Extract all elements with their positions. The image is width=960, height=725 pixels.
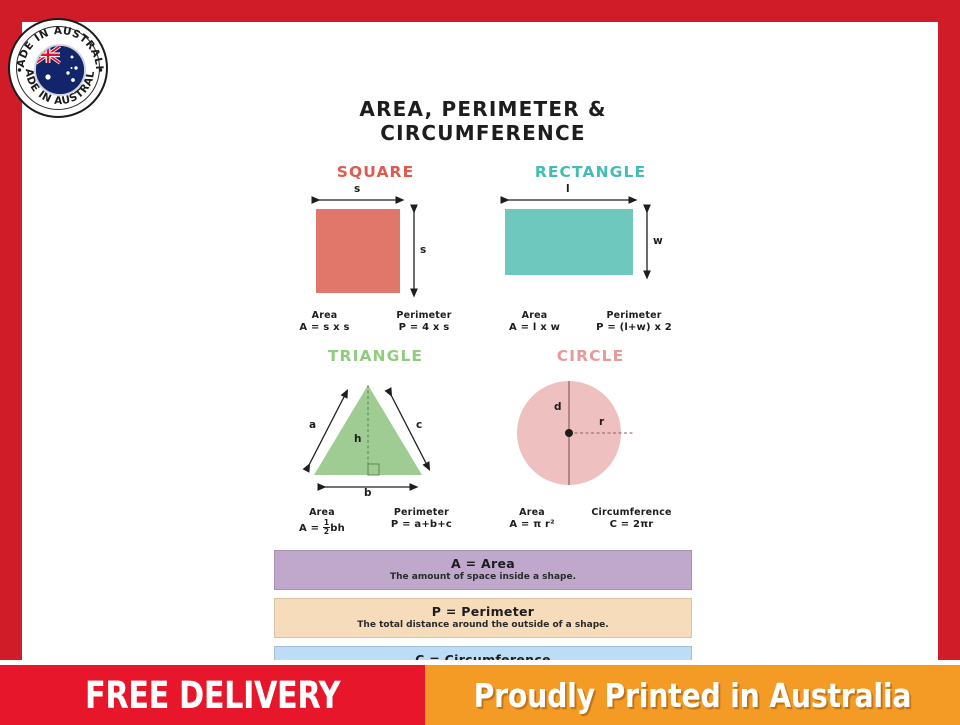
- circle-diagram-svg: [483, 371, 698, 499]
- shape-diagram-circle: d r: [483, 371, 698, 499]
- australian-flag-icon: [34, 44, 86, 96]
- circle-circumference-label: Circumference: [591, 507, 671, 518]
- rectangle-diagram-svg: [483, 187, 698, 307]
- circle-formulas: Area A = π r² Circumference C = 2πr: [483, 507, 698, 530]
- shape-title-triangle: TRIANGLE: [268, 347, 483, 365]
- triangle-area-prefix: A =: [299, 523, 323, 534]
- poster-content: AREA, PERIMETER & CIRCUMFERENCE SQUARE: [268, 80, 698, 640]
- shape-diagram-square: s s: [268, 187, 483, 307]
- circle-diameter-label: d: [554, 401, 562, 413]
- free-delivery-text: FREE DELIVERY: [85, 674, 340, 717]
- triangle-side-c-label: c: [416, 419, 422, 431]
- circle-circumference-expression: C = 2πr: [591, 519, 671, 530]
- rectangle-area-label: Area: [509, 310, 560, 321]
- circle-radius-label: r: [599, 416, 604, 428]
- rectangle-area-formula: Area A = l x w: [509, 310, 560, 333]
- promo-banner: FREE DELIVERY Proudly Printed in Austral…: [0, 665, 960, 725]
- shape-title-rectangle: RECTANGLE: [483, 163, 698, 181]
- definition-perimeter: P = Perimeter The total distance around …: [274, 598, 692, 638]
- circle-circumference-formula: Circumference C = 2πr: [591, 507, 671, 530]
- square-perimeter-label: Perimeter: [396, 310, 451, 321]
- triangle-area-expression: A = 12bh: [299, 519, 345, 536]
- definition-area: A = Area The amount of space inside a sh…: [274, 550, 692, 590]
- shape-title-circle: CIRCLE: [483, 347, 698, 365]
- square-side-right-label: s: [420, 244, 426, 256]
- shape-title-square: SQUARE: [268, 163, 483, 181]
- triangle-area-formula: Area A = 12bh: [299, 507, 345, 536]
- square-area-formula: Area A = s x s: [299, 310, 349, 333]
- shape-card-square: SQUARE s s: [268, 163, 483, 333]
- rectangle-formulas: Area A = l x w Perimeter P = (l+w) x 2: [483, 310, 698, 333]
- triangle-perimeter-expression: P = a+b+c: [391, 519, 452, 530]
- square-side-top-label: s: [354, 183, 360, 195]
- circle-area-formula: Area A = π r²: [509, 507, 554, 530]
- shape-card-rectangle: RECTANGLE l w: [483, 163, 698, 333]
- square-diagram-svg: [268, 187, 483, 307]
- frame-border-right: [938, 0, 960, 665]
- definition-area-title: A = Area: [281, 556, 685, 571]
- proudly-printed-banner: Proudly Printed in Australia: [425, 665, 960, 725]
- definition-perimeter-subtitle: The total distance around the outside of…: [281, 620, 685, 630]
- free-delivery-banner: FREE DELIVERY: [0, 665, 425, 725]
- triangle-formulas: Area A = 12bh Perimeter P = a+b+c: [268, 507, 483, 536]
- square-perimeter-expression: P = 4 x s: [396, 322, 451, 333]
- definition-perimeter-title: P = Perimeter: [281, 604, 685, 619]
- rectangle-perimeter-label: Perimeter: [596, 310, 672, 321]
- poster-title: AREA, PERIMETER & CIRCUMFERENCE: [268, 80, 698, 145]
- square-formulas: Area A = s x s Perimeter P = 4 x s: [268, 310, 483, 333]
- definition-area-subtitle: The amount of space inside a shape.: [281, 572, 685, 582]
- triangle-side-a-label: a: [309, 419, 316, 431]
- poster-title-line-1: AREA, PERIMETER &: [268, 98, 698, 122]
- triangle-area-suffix: bh: [330, 523, 345, 534]
- rectangle-perimeter-expression: P = (l+w) x 2: [596, 322, 672, 333]
- shapes-row-top: SQUARE s s: [268, 163, 698, 333]
- made-in-australia-badge: MADE IN AUSTRALIA MADE IN AUSTRALIA: [8, 18, 108, 118]
- square-area-expression: A = s x s: [299, 322, 349, 333]
- rectangle-width-label: w: [653, 235, 663, 247]
- shape-card-triangle: TRIANGLE: [268, 347, 483, 536]
- shape-diagram-rectangle: l w: [483, 187, 698, 307]
- proudly-printed-text: Proudly Printed in Australia: [474, 676, 912, 715]
- rectangle-length-label: l: [566, 183, 570, 195]
- frame-border-top: [0, 0, 960, 22]
- rectangle-perimeter-formula: Perimeter P = (l+w) x 2: [596, 310, 672, 333]
- product-listing-image: MADE IN AUSTRALIA MADE IN AUSTRALIA: [0, 0, 960, 725]
- shape-card-circle: CIRCLE d r Area A = π r²: [483, 347, 698, 536]
- square-perimeter-formula: Perimeter P = 4 x s: [396, 310, 451, 333]
- triangle-perimeter-formula: Perimeter P = a+b+c: [391, 507, 452, 536]
- shapes-row-bottom: TRIANGLE: [268, 347, 698, 536]
- triangle-perimeter-label: Perimeter: [391, 507, 452, 518]
- triangle-diagram-svg: [268, 371, 483, 499]
- square-area-label: Area: [299, 310, 349, 321]
- circle-area-label: Area: [509, 507, 554, 518]
- triangle-base-label: b: [364, 487, 372, 499]
- triangle-height-label: h: [354, 433, 361, 445]
- circle-area-expression: A = π r²: [509, 519, 554, 530]
- poster-title-line-2: CIRCUMFERENCE: [268, 122, 698, 146]
- shape-diagram-triangle: a c h b: [268, 371, 483, 499]
- triangle-area-label: Area: [299, 507, 345, 518]
- rectangle-area-expression: A = l x w: [509, 322, 560, 333]
